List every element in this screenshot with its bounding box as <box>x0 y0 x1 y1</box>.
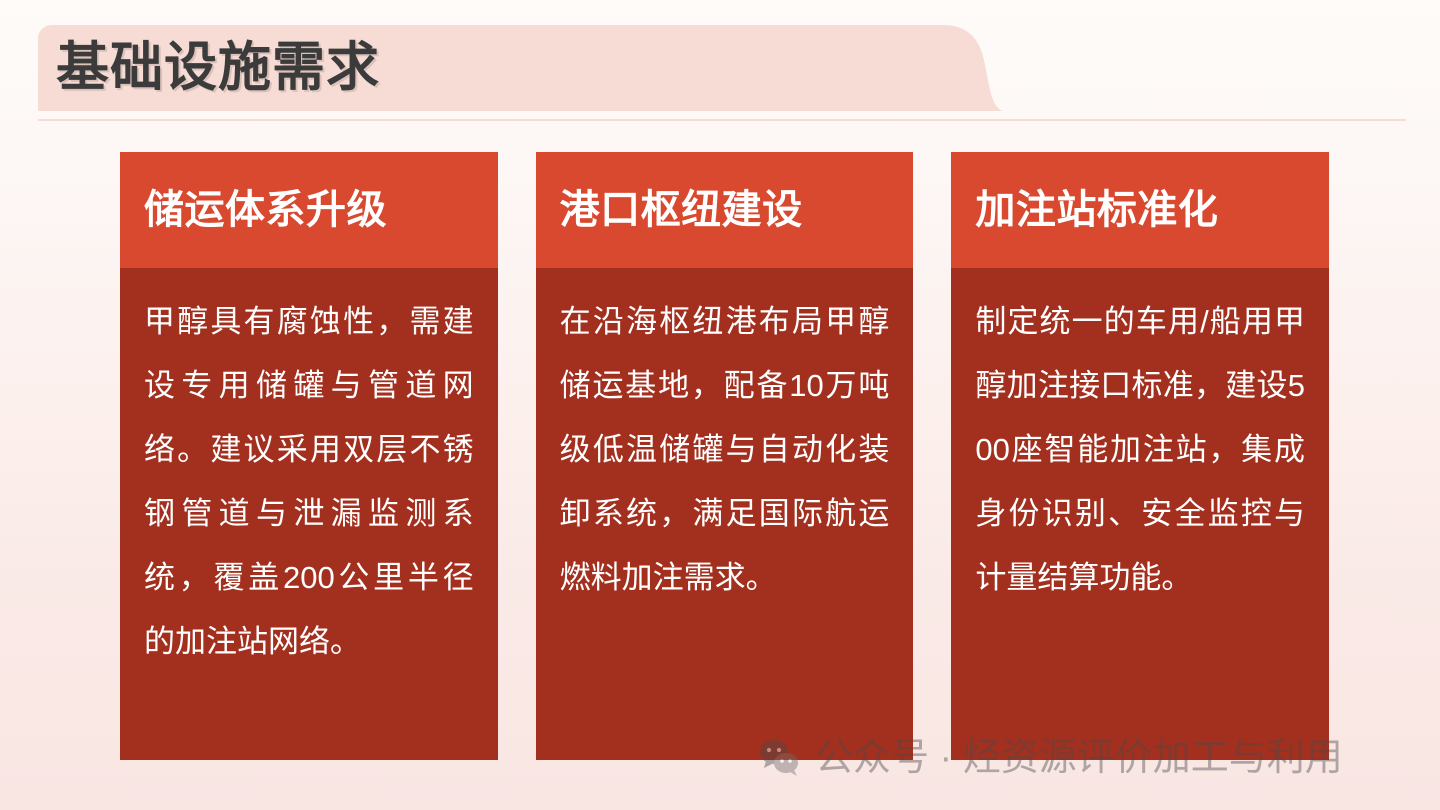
card-text: 在沿海枢纽港布局甲醇储运基地，配备10万吨级低温储罐与自动化装卸系统，满足国际航… <box>560 290 890 610</box>
card-body: 制定统一的车用/船用甲醇加注接口标准，建设500座智能加注站，集成身份识别、安全… <box>951 268 1329 760</box>
card-storage-transport[interactable]: 储运体系升级 甲醇具有腐蚀性，需建设专用储罐与管道网络。建议采用双层不锈钢管道与… <box>120 152 498 760</box>
card-body: 甲醇具有腐蚀性，需建设专用储罐与管道网络。建议采用双层不锈钢管道与泄漏监测系统，… <box>120 268 498 760</box>
card-text: 制定统一的车用/船用甲醇加注接口标准，建设500座智能加注站，集成身份识别、安全… <box>975 290 1305 610</box>
card-refuel-station[interactable]: 加注站标准化 制定统一的车用/船用甲醇加注接口标准，建设500座智能加注站，集成… <box>951 152 1329 760</box>
card-title: 加注站标准化 <box>975 186 1218 234</box>
card-title: 港口枢纽建设 <box>560 186 803 234</box>
card-text: 甲醇具有腐蚀性，需建设专用储罐与管道网络。建议采用双层不锈钢管道与泄漏监测系统，… <box>144 290 474 674</box>
slide-canvas: 基础设施需求 储运体系升级 甲醇具有腐蚀性，需建设专用储罐与管道网络。建议采用双… <box>0 0 1440 810</box>
page-title: 基础设施需求 <box>56 29 380 107</box>
title-divider <box>38 119 1406 121</box>
card-body: 在沿海枢纽港布局甲醇储运基地，配备10万吨级低温储罐与自动化装卸系统，满足国际航… <box>536 268 914 760</box>
card-header: 加注站标准化 <box>951 152 1329 268</box>
card-header: 港口枢纽建设 <box>536 152 914 268</box>
card-header: 储运体系升级 <box>120 152 498 268</box>
card-port-hub[interactable]: 港口枢纽建设 在沿海枢纽港布局甲醇储运基地，配备10万吨级低温储罐与自动化装卸系… <box>536 152 914 760</box>
card-title: 储运体系升级 <box>144 186 387 234</box>
card-list: 储运体系升级 甲醇具有腐蚀性，需建设专用储罐与管道网络。建议采用双层不锈钢管道与… <box>120 152 1329 760</box>
